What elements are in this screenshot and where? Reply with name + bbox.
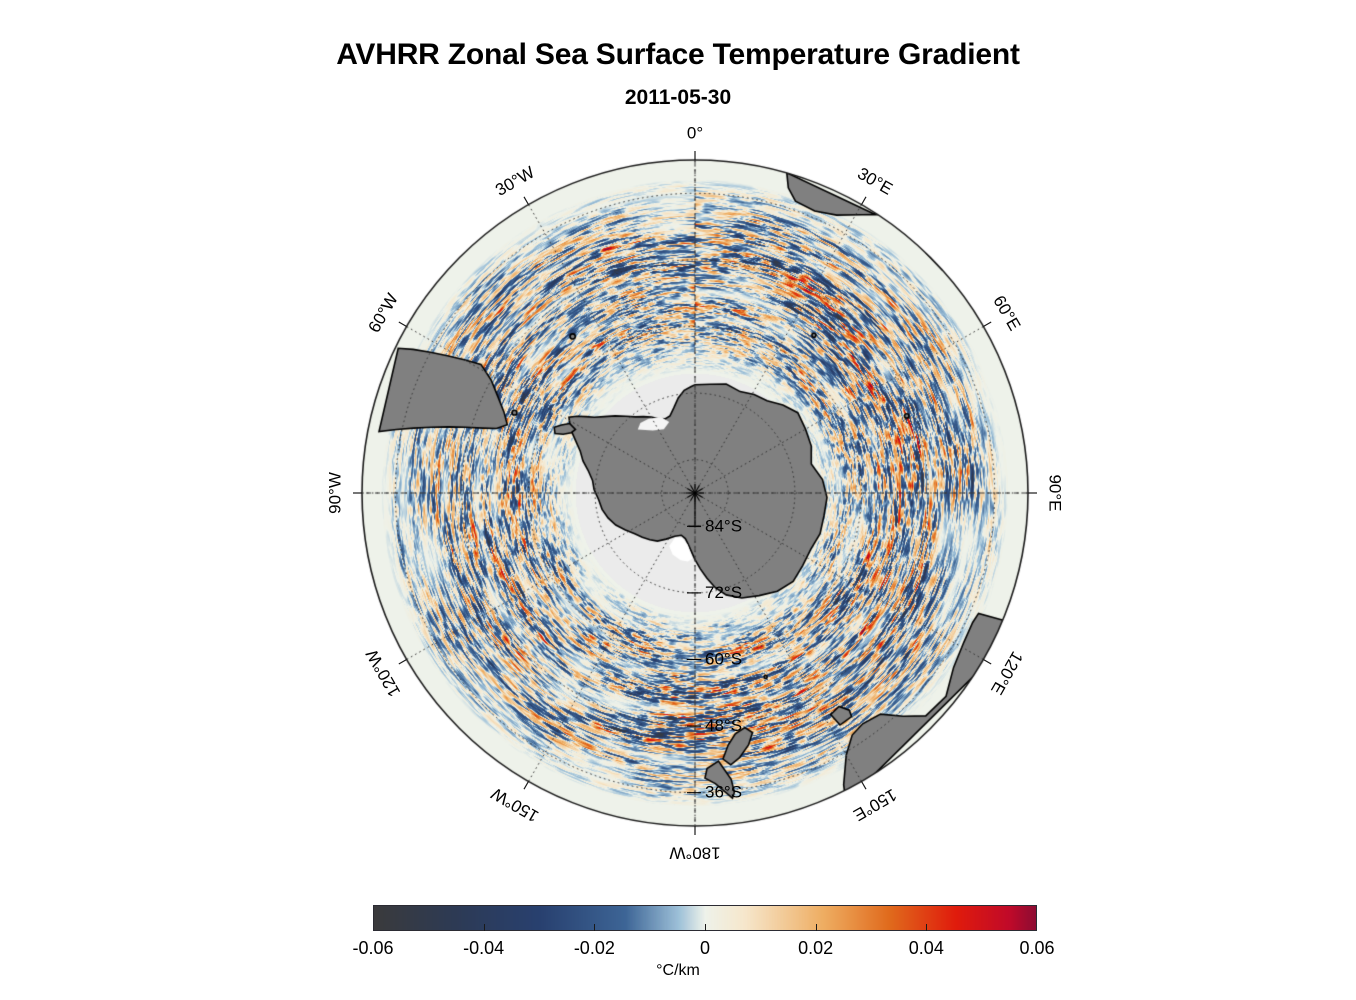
latitude-label: 36°S [705, 783, 742, 802]
colorbar-tick-label: -0.04 [424, 938, 544, 959]
longitude-label: 60°W [365, 290, 402, 336]
colorbar-tick-label: 0 [645, 938, 765, 959]
longitude-label: 150°W [488, 784, 542, 826]
latitude-label: 72°S [705, 583, 742, 602]
longitude-tick [983, 660, 991, 665]
longitude-tick [983, 322, 991, 327]
longitude-tick [399, 660, 407, 665]
longitude-label: 120°E [987, 648, 1027, 698]
longitude-label: 90°W [325, 472, 344, 514]
colorbar-tick-label: -0.06 [313, 938, 433, 959]
figure-subtitle-date: 2011-05-30 [0, 86, 1356, 110]
longitude-label: 30°W [492, 163, 538, 200]
page-title: AVHRR Zonal Sea Surface Temperature Grad… [0, 38, 1356, 72]
longitude-tick [524, 781, 529, 789]
latitude-label: 84°S [705, 516, 742, 535]
longitude-tick [862, 197, 867, 205]
longitude-tick [862, 781, 867, 789]
longitude-label: 30°E [854, 164, 896, 199]
colorbar-unit-label: °C/km [0, 962, 1356, 980]
longitude-label: 60°E [989, 292, 1024, 334]
colorbar-tick-label: 0.02 [756, 938, 876, 959]
colorbar-tick-label: -0.02 [534, 938, 654, 959]
longitude-label: 180°W [669, 844, 720, 863]
latitude-label: 60°S [705, 650, 742, 669]
figure-root: AVHRR Zonal Sea Surface Temperature Grad… [0, 0, 1356, 1000]
map-overlay: 0°30°E60°E90°E120°E150°E180°W150°W120°W9… [330, 128, 1060, 858]
longitude-tick [399, 322, 407, 327]
colorbar-tick-label: 0.06 [977, 938, 1097, 959]
longitude-tick [524, 197, 529, 205]
latitude-label: 48°S [705, 716, 742, 735]
colorbar-tick-label: 0.04 [866, 938, 986, 959]
polar-map: 0°30°E60°E90°E120°E150°E180°W150°W120°W9… [330, 128, 1060, 858]
longitude-label: 150°E [850, 785, 900, 825]
longitude-label: 90°E [1046, 474, 1065, 511]
colorbar [373, 905, 1037, 931]
longitude-label: 0° [687, 123, 703, 142]
colorbar-gradient [373, 905, 1037, 931]
longitude-label: 120°W [362, 646, 404, 700]
